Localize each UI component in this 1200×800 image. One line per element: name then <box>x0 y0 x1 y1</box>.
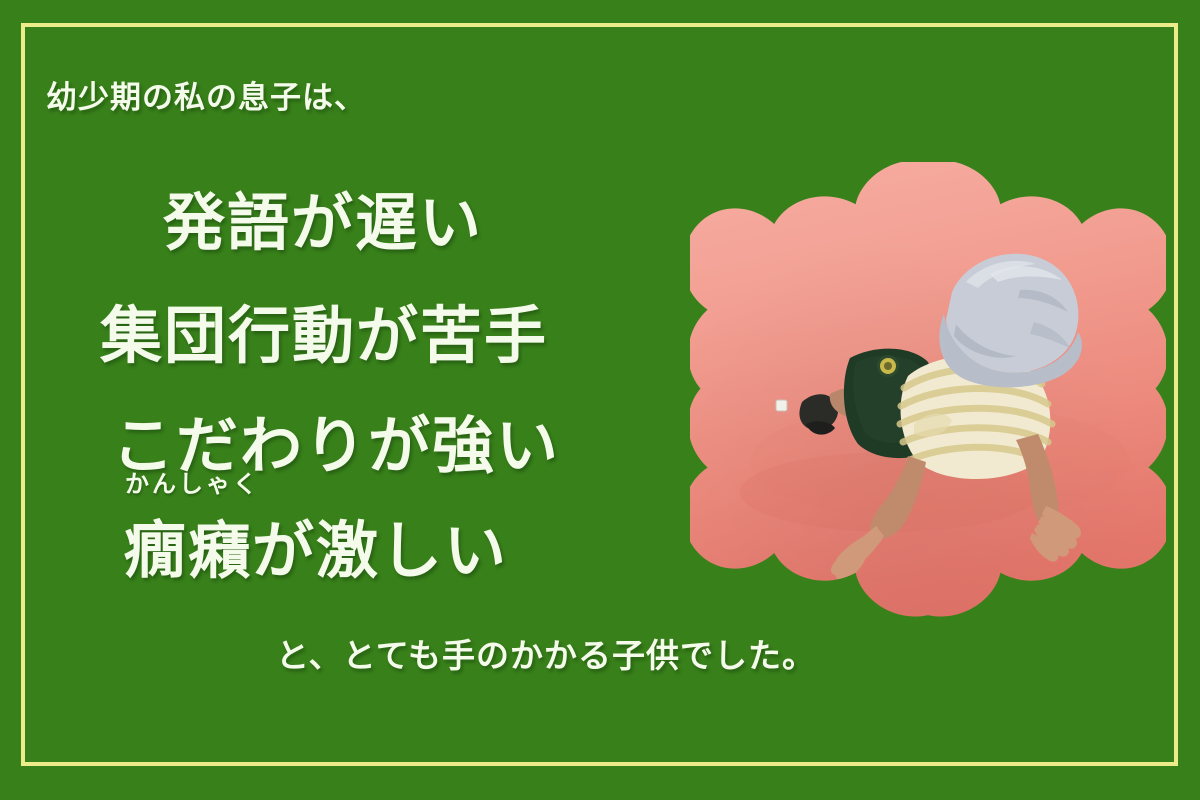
photo-card <box>690 162 1166 632</box>
trait-line-1: 発語が遅い <box>163 172 483 262</box>
child-photo <box>690 162 1166 632</box>
lead-text: 幼少期の私の息子は、 <box>46 72 366 117</box>
trait-line-2: 集団行動が苦手 <box>100 285 548 375</box>
closing-text: と、とても手のかかる子供でした。 <box>276 629 816 677</box>
trait-line-4: 癇癪が激しい <box>124 500 508 590</box>
furigana-reading: かんしゃく <box>125 464 260 499</box>
child-illustration <box>690 162 1166 632</box>
poster-canvas: 幼少期の私の息子は、 発語が遅い 集団行動が苦手 こだわりが強い かんしゃく 癇… <box>0 0 1200 800</box>
